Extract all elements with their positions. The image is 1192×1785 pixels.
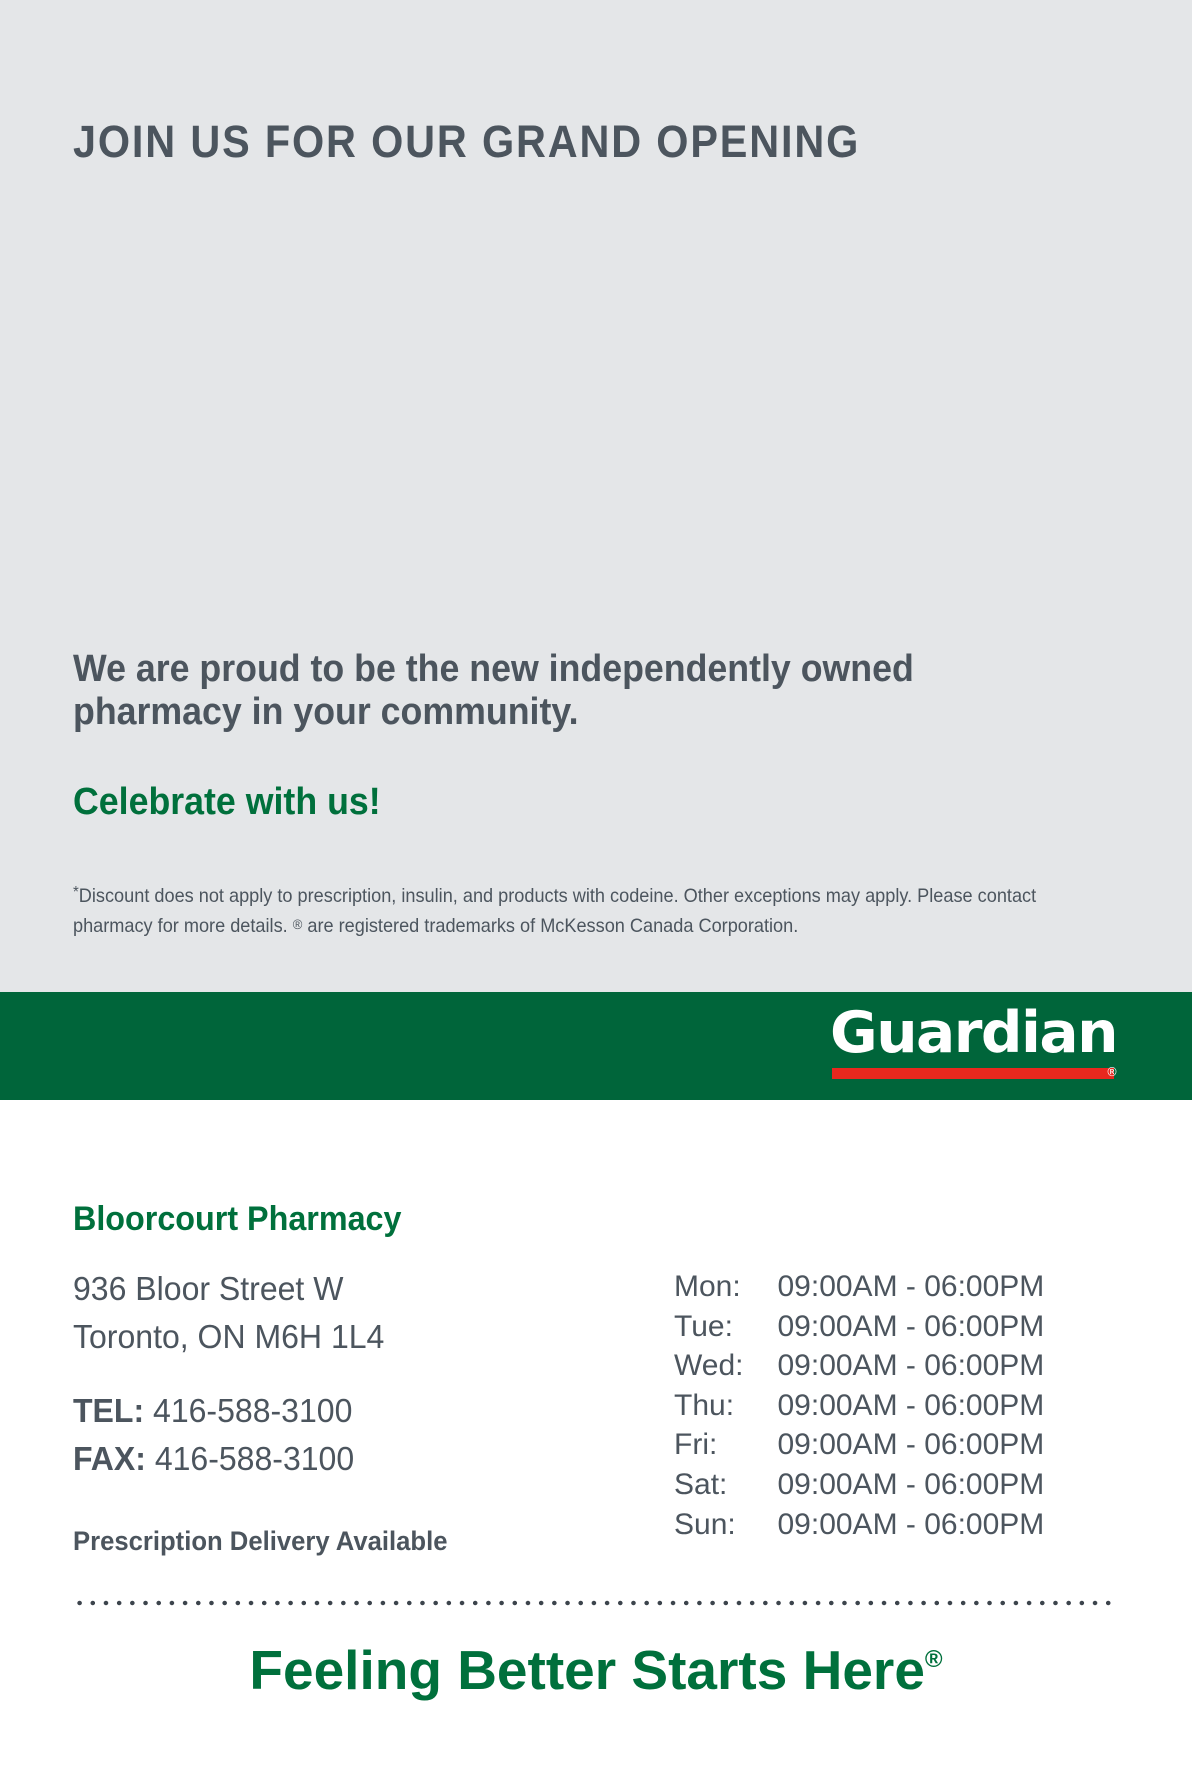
table-row: Fri: 09:00AM - 06:00PM bbox=[674, 1425, 1044, 1465]
table-row: Sun: 09:00AM - 06:00PM bbox=[674, 1505, 1044, 1545]
telephone-value[interactable]: 416-588-3100 bbox=[153, 1392, 352, 1429]
footer-registered-mark-icon: ® bbox=[925, 1646, 943, 1673]
address-line-1: 936 Bloor Street W bbox=[73, 1265, 655, 1313]
footer-tagline: Feeling Better Starts Here® bbox=[0, 1638, 1192, 1702]
hours-time-value: 09:00AM - 06:00PM bbox=[777, 1386, 1044, 1426]
hours-time-value: 09:00AM - 06:00PM bbox=[777, 1307, 1044, 1347]
promo-cta-text: Celebrate with us! bbox=[73, 781, 1055, 824]
hours-time-value: 09:00AM - 06:00PM bbox=[777, 1505, 1044, 1545]
telephone-label: TEL: bbox=[73, 1392, 144, 1429]
table-row: Sat: 09:00AM - 06:00PM bbox=[674, 1465, 1044, 1505]
fax-label: FAX: bbox=[73, 1440, 146, 1477]
telephone-row: TEL: 416-588-3100 bbox=[73, 1387, 655, 1435]
fax-row: FAX: 416-588-3100 bbox=[73, 1435, 655, 1483]
promo-lead-text: We are proud to be the new independently… bbox=[73, 648, 1055, 733]
table-row: Tue: 09:00AM - 06:00PM bbox=[674, 1307, 1044, 1347]
store-columns: 936 Bloor Street W Toronto, ON M6H 1L4 T… bbox=[73, 1265, 1119, 1557]
logo-registered-mark-icon: ® bbox=[1106, 1066, 1118, 1079]
table-row: Wed: 09:00AM - 06:00PM bbox=[674, 1346, 1044, 1386]
disclaimer-line-2-post: are registered trademarks of McKesson Ca… bbox=[302, 915, 798, 937]
hours-table-body: Mon: 09:00AM - 06:00PM Tue: 09:00AM - 06… bbox=[674, 1267, 1044, 1544]
hero-panel: JOIN US FOR OUR GRAND OPENING We are pro… bbox=[0, 0, 1192, 992]
table-row: Mon: 09:00AM - 06:00PM bbox=[674, 1267, 1044, 1307]
dotted-divider bbox=[73, 1600, 1119, 1606]
disclaimer-line-1: Discount does not apply to prescription,… bbox=[79, 885, 912, 907]
hours-day-label: Sun: bbox=[674, 1505, 777, 1545]
page-title: JOIN US FOR OUR GRAND OPENING bbox=[73, 116, 860, 168]
contact-column: 936 Bloor Street W Toronto, ON M6H 1L4 T… bbox=[73, 1265, 673, 1557]
footer-tagline-text: Feeling Better Starts Here bbox=[249, 1639, 925, 1701]
hours-time-value: 09:00AM - 06:00PM bbox=[777, 1346, 1044, 1386]
table-row: Thu: 09:00AM - 06:00PM bbox=[674, 1386, 1044, 1426]
fax-value: 416-588-3100 bbox=[155, 1440, 354, 1477]
hours-day-label: Fri: bbox=[674, 1425, 777, 1465]
hours-day-label: Wed: bbox=[674, 1346, 777, 1386]
hours-table: Mon: 09:00AM - 06:00PM Tue: 09:00AM - 06… bbox=[674, 1267, 1044, 1544]
store-name: Bloorcourt Pharmacy bbox=[73, 1200, 1067, 1239]
hours-day-label: Sat: bbox=[674, 1465, 777, 1505]
guardian-wordmark: Guardian bbox=[830, 1002, 1126, 1064]
guardian-logo: Guardian ® bbox=[830, 1002, 1120, 1090]
promo-block: We are proud to be the new independently… bbox=[73, 648, 1118, 824]
brand-band: Guardian ® bbox=[0, 992, 1192, 1100]
hours-time-value: 09:00AM - 06:00PM bbox=[777, 1425, 1044, 1465]
hours-time-value: 09:00AM - 06:00PM bbox=[777, 1465, 1044, 1505]
hours-time-value: 09:00AM - 06:00PM bbox=[777, 1267, 1044, 1307]
address-line-2: Toronto, ON M6H 1L4 bbox=[73, 1313, 655, 1361]
delivery-note: Prescription Delivery Available bbox=[73, 1526, 643, 1557]
registered-mark-icon: ® bbox=[293, 916, 303, 932]
hours-day-label: Tue: bbox=[674, 1307, 777, 1347]
disclaimer-text: *Discount does not apply to prescription… bbox=[73, 881, 1045, 941]
logo-red-rule bbox=[832, 1068, 1114, 1079]
store-info: Bloorcourt Pharmacy 936 Bloor Street W T… bbox=[73, 1200, 1119, 1557]
hours-day-label: Thu: bbox=[674, 1386, 777, 1426]
flyer-page: JOIN US FOR OUR GRAND OPENING We are pro… bbox=[0, 0, 1192, 1785]
hours-column: Mon: 09:00AM - 06:00PM Tue: 09:00AM - 06… bbox=[673, 1265, 1119, 1544]
phone-group: TEL: 416-588-3100 FAX: 416-588-3100 bbox=[73, 1387, 673, 1483]
hours-day-label: Mon: bbox=[674, 1267, 777, 1307]
